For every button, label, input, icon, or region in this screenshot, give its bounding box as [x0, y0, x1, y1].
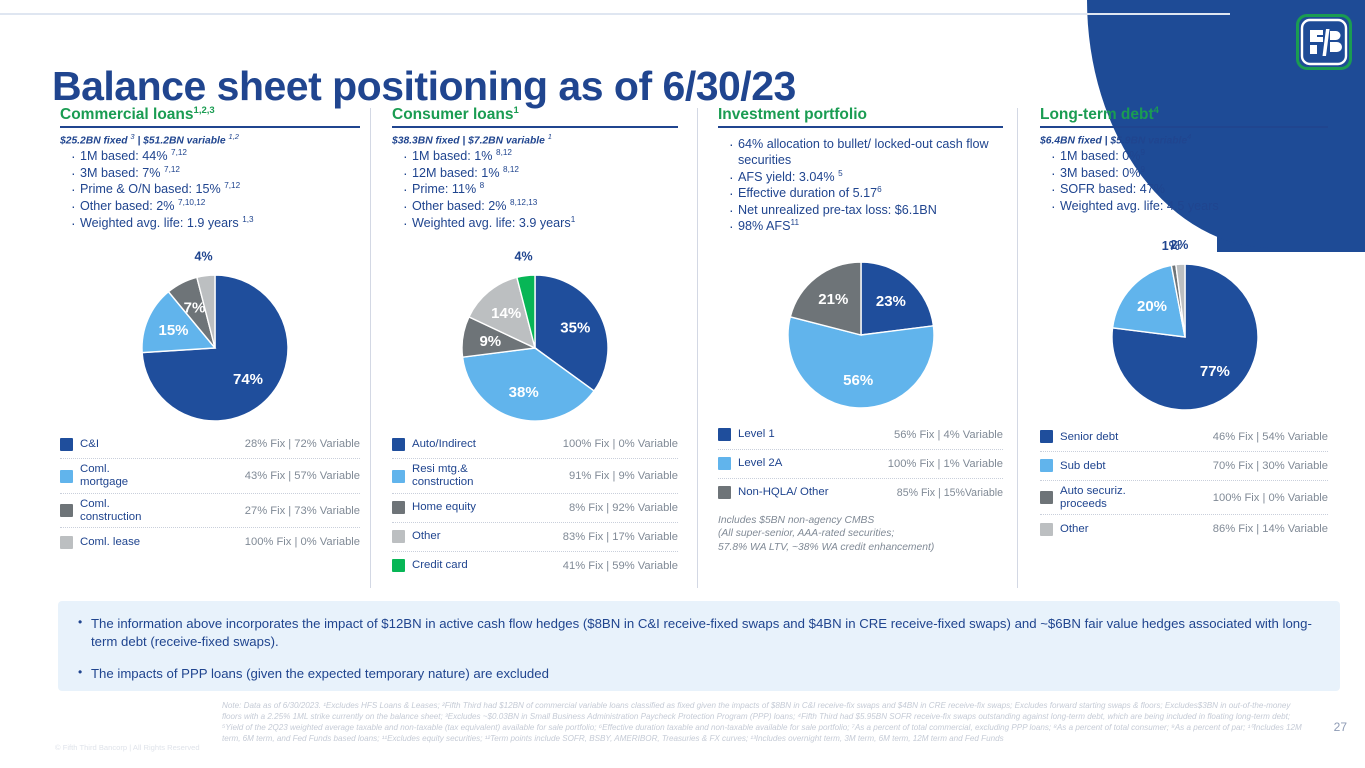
- bullet-sup: 7,12: [224, 181, 240, 190]
- header-divider: [0, 13, 1230, 15]
- legend-label: Non-HQLA/ Other: [738, 486, 829, 499]
- legend-label: Coml. construction: [80, 498, 162, 524]
- bullet-sup: 5: [838, 169, 843, 178]
- bullet-text: Weighted avg. life: 1.9 years: [80, 217, 242, 231]
- panel-title-text: Commercial loans: [60, 106, 194, 123]
- legend-label: C&I: [80, 438, 99, 451]
- pie-slice-label: 38%: [509, 384, 539, 401]
- pie-svg-investment: 23%56%21%: [731, 239, 991, 417]
- list-item: 1M based: 0%9: [1051, 148, 1328, 165]
- legend-item[interactable]: Auto securiz. proceeds 100% Fix | 0% Var…: [1040, 481, 1328, 516]
- list-item: Effective duration of 5.176: [729, 185, 1003, 202]
- copyright-text: © Fifth Third Bancorp | All Rights Reser…: [55, 743, 200, 752]
- bullet-sup: 8,12,13: [510, 198, 537, 207]
- pie-slice-label: 15%: [158, 322, 188, 339]
- legend-label: Other: [1060, 523, 1089, 536]
- bullet-text: Other based: 2%: [80, 200, 178, 214]
- callout-list: The information above incorporates the i…: [76, 615, 1322, 684]
- legend-item[interactable]: Home equity 8% Fix | 92% Variable: [392, 494, 678, 523]
- pie-chart-investment-portfolio: 23%56%21%: [718, 239, 1003, 417]
- legend-item[interactable]: Coml. mortgage 43% Fix | 57% Variable: [60, 459, 360, 494]
- legend-swatch-icon: [718, 428, 731, 441]
- legend-value: 100% Fix | 1% Variable: [882, 458, 1003, 470]
- list-item: Other based: 2% 7,10,12: [71, 198, 360, 215]
- legend-value: 56% Fix | 4% Variable: [888, 429, 1003, 441]
- list-item: The impacts of PPP loans (given the expe…: [76, 665, 1322, 683]
- pie-slice-label: 4%: [515, 250, 533, 264]
- legend-value: 70% Fix | 30% Variable: [1207, 460, 1328, 472]
- pie-slice-label: 77%: [1200, 363, 1230, 380]
- subtitle-part-2: | $51.2BN variable: [135, 136, 229, 147]
- panel-title-long-term-debt: Long-term debt4: [1040, 106, 1328, 123]
- page-title: Balance sheet positioning as of 6/30/23: [52, 63, 796, 110]
- list-item: 3M based: 7% 7,12: [71, 165, 360, 182]
- legend-value: 8% Fix | 92% Variable: [563, 502, 678, 514]
- legend-label: Home equity: [412, 501, 476, 514]
- panel-title-commercial: Commercial loans1,2,3: [60, 106, 360, 123]
- legend-swatch-icon: [1040, 523, 1053, 536]
- list-item: 1M based: 1% 8,12: [403, 148, 678, 165]
- list-item: 12M based: 1% 8,12: [403, 165, 678, 182]
- bullet-text: Effective duration of 5.17: [738, 187, 877, 201]
- panel-title-superscript: 4: [1154, 105, 1159, 116]
- legend-swatch-icon: [60, 536, 73, 549]
- panel-long-term-debt: Long-term debt4 $6.4BN fixed | $5.9BN va…: [1040, 106, 1328, 543]
- bullet-text: Prime & O/N based: 15%: [80, 183, 224, 197]
- legend-swatch-icon: [392, 438, 405, 451]
- legend-swatch-icon: [60, 470, 73, 483]
- legend-commercial-loans: C&I 28% Fix | 72% Variable Coml. mortgag…: [60, 430, 360, 556]
- legend-item[interactable]: Level 2A 100% Fix | 1% Variable: [718, 450, 1003, 479]
- bullet-text: 1M based: 1%: [412, 149, 496, 163]
- panel-title-text: Long-term debt: [1040, 106, 1154, 123]
- legend-swatch-icon: [1040, 491, 1053, 504]
- legend-label: Coml. lease: [80, 536, 140, 549]
- bullet-sup: 1: [571, 215, 576, 224]
- legend-item[interactable]: Sub debt 70% Fix | 30% Variable: [1040, 452, 1328, 481]
- pie-svg-long-term-debt: 77%20%1%2%: [1049, 227, 1319, 419]
- bullet-sup: 9: [1141, 165, 1146, 174]
- legend-swatch-icon: [718, 457, 731, 470]
- bullet-sup: 8: [480, 181, 485, 190]
- pie-slice-label: 4%: [195, 250, 213, 264]
- bullet-text: 3M based: 0%: [1060, 166, 1141, 180]
- panel-investment-portfolio: Investment portfolio 64% allocation to b…: [718, 106, 1003, 554]
- legend-value: 27% Fix | 73% Variable: [239, 505, 360, 517]
- panel-title-consumer: Consumer loans1: [392, 106, 678, 123]
- legend-item[interactable]: Other 83% Fix | 17% Variable: [392, 523, 678, 552]
- subtitle-part-1: $38.3BN fixed | $7.2BN variable: [392, 136, 548, 147]
- bullet-text: 64% allocation to bullet/ locked-out cas…: [738, 137, 989, 167]
- pie-slice-label: 74%: [233, 371, 263, 388]
- bullet-text: 3M based: 7%: [80, 166, 164, 180]
- legend-label: Auto/Indirect: [412, 438, 476, 451]
- bullet-list-consumer: 1M based: 1% 8,12 12M based: 1% 8,12 Pri…: [392, 148, 678, 233]
- panel-title-text: Investment portfolio: [718, 106, 867, 123]
- legend-label: Level 1: [738, 428, 775, 441]
- legend-swatch-icon: [60, 438, 73, 451]
- legend-value: 91% Fix | 9% Variable: [563, 470, 678, 482]
- legend-item[interactable]: C&I 28% Fix | 72% Variable: [60, 430, 360, 459]
- legend-label: Credit card: [412, 559, 468, 572]
- pie-svg-commercial: 74%15%7%4%: [75, 236, 345, 426]
- pie-slice-label: 21%: [818, 291, 848, 308]
- list-item: 3M based: 0%9: [1051, 165, 1328, 182]
- legend-label: Coml. mortgage: [80, 463, 158, 489]
- subtitle-part-1: $25.2BN fixed: [60, 136, 130, 147]
- bullet-text: Weighted avg. life: 3.9 years: [412, 217, 571, 231]
- subtitle-sup-1: 4: [1187, 132, 1191, 141]
- panel-subtitle-long-term-debt: $6.4BN fixed | $5.9BN variable4: [1040, 132, 1328, 146]
- bullet-list-long-term-debt: 1M based: 0%9 3M based: 0%9 SOFR based: …: [1040, 148, 1328, 215]
- bullet-text: SOFR based: 47%: [1060, 182, 1165, 196]
- panel-title-rule: [1040, 126, 1328, 128]
- list-item: Weighted avg. life: 4.5 years: [1051, 198, 1328, 215]
- legend-label: Auto securiz. proceeds: [1060, 485, 1140, 511]
- legend-investment-portfolio: Level 1 56% Fix | 4% Variable Level 2A 1…: [718, 421, 1003, 507]
- bullet-list-commercial: 1M based: 44% 7,12 3M based: 7% 7,12 Pri…: [60, 148, 360, 233]
- pie-slice-label: 9%: [479, 333, 501, 350]
- legend-label: Resi mtg.& construction: [412, 463, 492, 489]
- legend-swatch-icon: [60, 504, 73, 517]
- legend-value: 100% Fix | 0% Variable: [1207, 492, 1328, 504]
- legend-value: 46% Fix | 54% Variable: [1207, 431, 1328, 443]
- bullet-text: Prime: 11%: [412, 183, 480, 197]
- panel-subtitle-consumer: $38.3BN fixed | $7.2BN variable 1: [392, 132, 678, 146]
- callout-box: The information above incorporates the i…: [58, 601, 1340, 691]
- legend-long-term-debt: Senior debt 46% Fix | 54% Variable Sub d…: [1040, 423, 1328, 544]
- legend-swatch-icon: [718, 486, 731, 499]
- legend-item[interactable]: Credit card 41% Fix | 59% Variable: [392, 552, 678, 580]
- subtitle-sup-2: 1,2: [228, 132, 238, 141]
- bullet-text: 1M based: 44%: [80, 149, 171, 163]
- legend-swatch-icon: [392, 530, 405, 543]
- page-number: 27: [1334, 720, 1347, 734]
- column-separator: [370, 108, 371, 588]
- panel-title-rule: [392, 126, 678, 128]
- bullet-text: AFS yield: 3.04%: [738, 170, 838, 184]
- legend-value: 43% Fix | 57% Variable: [239, 470, 360, 482]
- pie-slice-label: 7%: [184, 300, 206, 317]
- bullet-sup: 7,12: [171, 148, 187, 157]
- legend-swatch-icon: [392, 470, 405, 483]
- bullet-text: 1M based: 0%: [1060, 149, 1141, 163]
- list-item: Weighted avg. life: 1.9 years 1,3: [71, 215, 360, 232]
- list-item: Other based: 2% 8,12,13: [403, 198, 678, 215]
- legend-swatch-icon: [1040, 430, 1053, 443]
- legend-value: 83% Fix | 17% Variable: [557, 531, 678, 543]
- column-separator: [1017, 108, 1018, 588]
- panel-commercial-loans: Commercial loans1,2,3 $25.2BN fixed 3 | …: [60, 106, 360, 556]
- column-separator: [697, 108, 698, 588]
- panel-title-text: Consumer loans: [392, 106, 513, 123]
- legend-value: 28% Fix | 72% Variable: [239, 438, 360, 450]
- legend-label: Other: [412, 530, 441, 543]
- bullet-sup: 1,3: [242, 215, 253, 224]
- list-item: Prime & O/N based: 15% 7,12: [71, 181, 360, 198]
- legend-item[interactable]: Senior debt 46% Fix | 54% Variable: [1040, 423, 1328, 452]
- bullet-text: Weighted avg. life: 4.5 years: [1060, 199, 1219, 213]
- legend-item[interactable]: Level 1 56% Fix | 4% Variable: [718, 421, 1003, 450]
- legend-item[interactable]: Other 86% Fix | 14% Variable: [1040, 515, 1328, 543]
- legend-swatch-icon: [392, 559, 405, 572]
- pie-slice-label: 35%: [560, 320, 590, 337]
- legend-item[interactable]: Resi mtg.& construction 91% Fix | 9% Var…: [392, 459, 678, 494]
- list-item: SOFR based: 47%: [1051, 181, 1328, 198]
- bullet-sup: 6: [877, 185, 882, 194]
- legend-item[interactable]: Auto/Indirect 100% Fix | 0% Variable: [392, 430, 678, 459]
- bullet-text: 12M based: 1%: [412, 166, 503, 180]
- legend-value: 100% Fix | 0% Variable: [239, 536, 360, 548]
- pie-slice-label: 20%: [1137, 298, 1167, 315]
- legend-item[interactable]: Non-HQLA/ Other 85% Fix | 15%Variable: [718, 479, 1003, 507]
- panel-consumer-loans: Consumer loans1 $38.3BN fixed | $7.2BN v…: [392, 106, 678, 580]
- legend-value: 85% Fix | 15%Variable: [891, 487, 1003, 499]
- list-item: Weighted avg. life: 3.9 years1: [403, 215, 678, 232]
- legend-item[interactable]: Coml. lease 100% Fix | 0% Variable: [60, 528, 360, 556]
- bullet-sup: 8,12: [503, 165, 519, 174]
- footnote-text: Note: Data as of 6/30/2023. ¹Excludes HF…: [222, 700, 1310, 745]
- investment-portfolio-note: Includes $5BN non-agency CMBS (All super…: [718, 514, 1003, 554]
- fifth-third-logo: [1296, 14, 1352, 70]
- bullet-sup: 11: [791, 218, 800, 227]
- pie-chart-consumer-loans: 35%38%9%14%4%: [392, 236, 678, 426]
- legend-label: Senior debt: [1060, 431, 1118, 444]
- list-item: 1M based: 44% 7,12: [71, 148, 360, 165]
- list-item: Net unrealized pre-tax loss: $6.1BN: [729, 202, 1003, 218]
- bullet-sup: 9: [1141, 148, 1146, 157]
- legend-value: 41% Fix | 59% Variable: [557, 560, 678, 572]
- legend-value: 100% Fix | 0% Variable: [557, 438, 678, 450]
- bullet-sup: 8,12: [496, 148, 512, 157]
- pie-slice-label: 56%: [843, 372, 873, 389]
- pie-svg-consumer: 35%38%9%14%4%: [405, 236, 665, 426]
- legend-swatch-icon: [392, 501, 405, 514]
- legend-label: Sub debt: [1060, 460, 1106, 473]
- panel-title-rule: [60, 126, 360, 128]
- list-item: 98% AFS11: [729, 218, 1003, 235]
- bullet-text: Other based: 2%: [412, 200, 510, 214]
- subtitle-part-1: $6.4BN fixed | $5.9BN variable: [1040, 136, 1187, 147]
- list-item: 64% allocation to bullet/ locked-out cas…: [729, 136, 1003, 169]
- panel-title-rule: [718, 126, 1003, 128]
- panel-title-superscript: 1: [513, 105, 518, 116]
- panel-subtitle-commercial: $25.2BN fixed 3 | $51.2BN variable 1,2: [60, 132, 360, 146]
- legend-consumer-loans: Auto/Indirect 100% Fix | 0% Variable Res…: [392, 430, 678, 580]
- list-item: The information above incorporates the i…: [76, 615, 1322, 651]
- pie-slice-label: 14%: [491, 305, 521, 322]
- pie-chart-commercial-loans: 74%15%7%4%: [60, 236, 360, 426]
- list-item: AFS yield: 3.04% 5: [729, 169, 1003, 186]
- bullet-list-investment: 64% allocation to bullet/ locked-out cas…: [718, 136, 1003, 235]
- subtitle-sup-1: 1: [548, 132, 552, 141]
- list-item: Prime: 11% 8: [403, 181, 678, 198]
- legend-item[interactable]: Coml. construction 27% Fix | 73% Variabl…: [60, 494, 360, 529]
- legend-label: Level 2A: [738, 457, 782, 470]
- legend-swatch-icon: [1040, 459, 1053, 472]
- pie-chart-long-term-debt: 77%20%1%2%: [1040, 227, 1328, 419]
- pie-slice-label: 2%: [1170, 238, 1188, 252]
- legend-value: 86% Fix | 14% Variable: [1207, 523, 1328, 535]
- bullet-text: 98% AFS: [738, 219, 791, 233]
- pie-slice-label: 23%: [875, 293, 905, 310]
- panel-title-investment: Investment portfolio: [718, 106, 1003, 123]
- bullet-sup: 7,12: [164, 165, 180, 174]
- panel-title-superscript: 1,2,3: [194, 105, 215, 116]
- bullet-text: Net unrealized pre-tax loss: $6.1BN: [738, 203, 937, 217]
- bullet-sup: 7,10,12: [178, 198, 205, 207]
